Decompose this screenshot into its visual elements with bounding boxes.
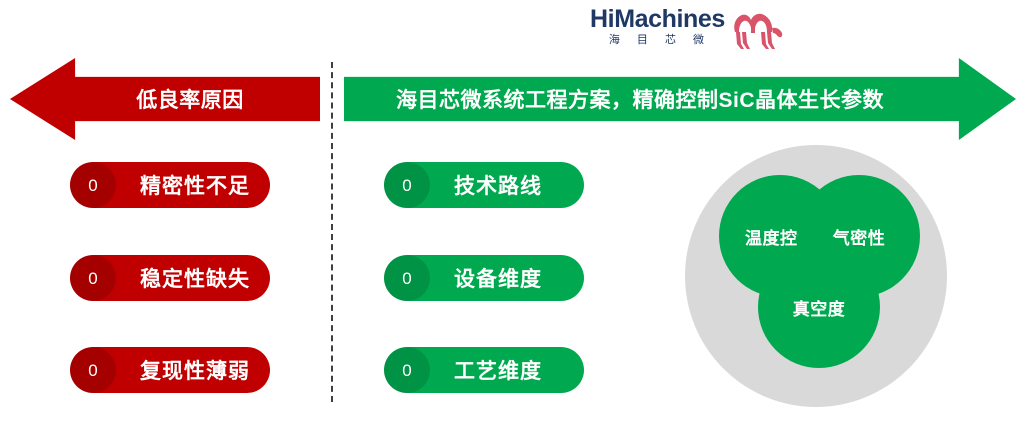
solution-item-1-badge: 0 [384, 162, 430, 208]
solution-item-1-label: 技术路线 [454, 162, 542, 208]
logo-subtitle: 海 目 芯 微 [604, 33, 711, 47]
problem-item-1-number: 0 [88, 177, 97, 194]
solution-item-3-badge: 0 [384, 347, 430, 393]
venn-circle-vacuum[interactable]: 真空度 [758, 246, 880, 368]
company-logo: HiMachines 海 目 芯 微 [590, 6, 760, 56]
solution-item-2-number: 0 [402, 270, 411, 287]
problem-item-1-badge: 0 [70, 162, 116, 208]
venn-diagram: 温度控制 气密性 真空度 [685, 145, 947, 375]
solution-item-2-badge: 0 [384, 255, 430, 301]
problem-banner-label: 低良率原因 [86, 84, 244, 114]
camel-icon [729, 8, 785, 55]
solution-item-2-label: 设备维度 [454, 255, 542, 301]
vertical-dashed-divider [331, 62, 333, 402]
problem-item-3-label: 复现性薄弱 [140, 347, 250, 393]
venn-label-airtightness: 气密性 [833, 224, 886, 249]
solution-item-3-label: 工艺维度 [454, 347, 542, 393]
solution-banner-label: 海目芯微系统工程方案，精确控制SiC晶体生长参数 [396, 84, 964, 114]
slide-canvas: HiMachines 海 目 芯 微 低良 [0, 0, 1025, 422]
problem-item-2-label: 稳定性缺失 [140, 255, 250, 301]
solution-item-3-number: 0 [402, 362, 411, 379]
problem-item-2-number: 0 [88, 270, 97, 287]
logo-row: HiMachines 海 目 芯 微 [590, 6, 785, 55]
solution-banner-arrow: 海目芯微系统工程方案，精确控制SiC晶体生长参数 [344, 58, 1016, 140]
solution-item-1-number: 0 [402, 177, 411, 194]
venn-label-vacuum: 真空度 [793, 295, 846, 320]
problem-item-1-label: 精密性不足 [140, 162, 250, 208]
problem-item-2-badge: 0 [70, 255, 116, 301]
problem-banner-arrow: 低良率原因 [10, 58, 320, 140]
problem-item-3-number: 0 [88, 362, 97, 379]
problem-item-3-badge: 0 [70, 347, 116, 393]
logo-textblock: HiMachines 海 目 芯 微 [590, 6, 725, 47]
logo-wordmark: HiMachines [590, 6, 725, 33]
